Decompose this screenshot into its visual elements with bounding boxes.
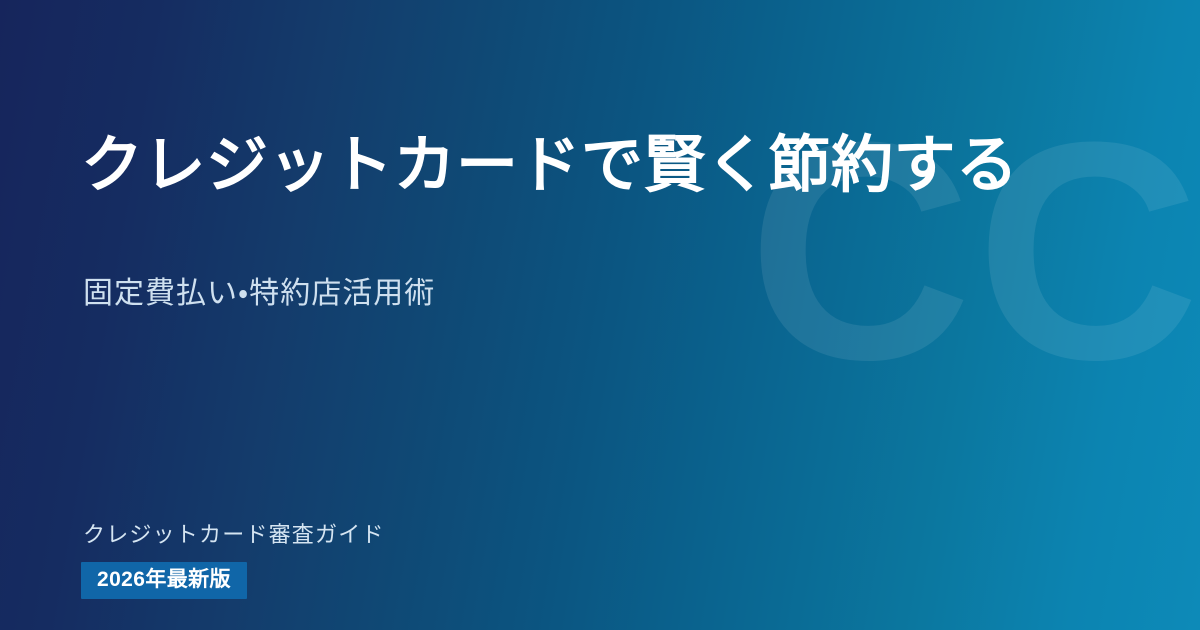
og-banner-card: CC クレジットカードで賢く節約する 固定費払い・特約店活用術 クレジットカード… bbox=[0, 0, 1200, 630]
status-badge: 2026年最新版 bbox=[81, 562, 247, 599]
page-title: クレジットカードで賢く節約する bbox=[81, 128, 1019, 204]
footer-block: クレジットカード審査ガイド 2026年最新版 bbox=[81, 521, 385, 599]
brand-name: クレジットカード審査ガイド bbox=[83, 521, 385, 550]
content-stack: クレジットカードで賢く節約する 固定費払い・特約店活用術 クレジットカード審査ガ… bbox=[81, 0, 1121, 630]
page-subtitle: 固定費払い・特約店活用術 bbox=[83, 274, 435, 313]
